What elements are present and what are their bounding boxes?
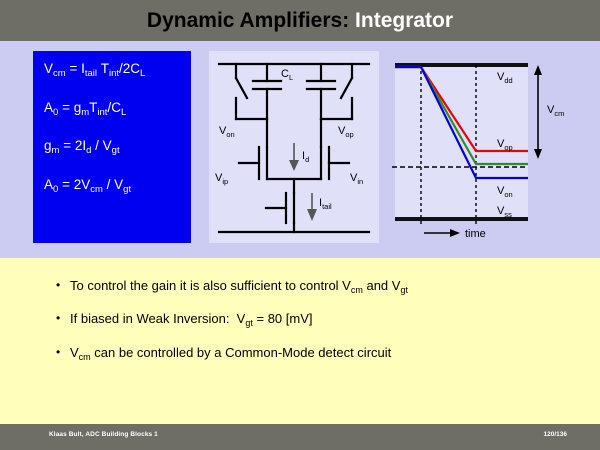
list-item: Vcm can be controlled by a Common-Mode d… <box>56 345 556 361</box>
von-label: Von <box>219 125 235 139</box>
page-title: Dynamic Amplifiers: Integrator <box>147 9 453 33</box>
vcm-span-label: Vcm <box>547 104 564 118</box>
bullet-panel: To control the gain it is also sufficien… <box>0 258 600 424</box>
footer-page-number: 120/136 <box>544 431 568 438</box>
vop-label: Vop <box>338 125 354 139</box>
vcm-span-arrow-head-up <box>534 65 542 75</box>
formula-box: Vcm = Itail Tint/2CL A0 = gmTint/CL gm =… <box>33 51 191 243</box>
circuit-diagram-panel: CL Von Vop Vip Vin Id Itail <box>209 51 379 243</box>
vin-label: Vin <box>350 172 363 186</box>
waveform-chart: Vdd Vop Von Vss Vcm time <box>392 51 570 243</box>
footer-author: Klaas Bult, ADC Building Blocks 1 <box>49 431 158 438</box>
itail-label: Itail <box>319 197 332 211</box>
id-label: Id <box>302 150 309 164</box>
right-switch-blade <box>341 78 352 98</box>
title-bar: Dynamic Amplifiers: Integrator <box>0 0 600 41</box>
formula-a0-gm: A0 = gmTint/CL <box>44 101 191 115</box>
cap-label: CL <box>281 68 293 82</box>
left-switch-blade <box>236 78 247 98</box>
formula-vcm: Vcm = Itail Tint/2CL <box>44 62 191 76</box>
footer-bar: Klaas Bult, ADC Building Blocks 1 120/13… <box>0 424 600 450</box>
vcm-span-arrow-head-down <box>534 149 542 159</box>
id-arrow-head <box>289 160 299 171</box>
itail-arrow-head <box>307 209 317 221</box>
circuit-schematic: CL Von Vop Vip Vin Id Itail <box>209 51 379 243</box>
upper-content-band: Vcm = Itail Tint/2CL A0 = gmTint/CL gm =… <box>0 41 600 258</box>
time-axis-label: time <box>465 228 486 240</box>
waveform-chart-panel: Vdd Vop Von Vss Vcm time <box>392 51 570 243</box>
list-item: To control the gain it is also sufficien… <box>56 278 556 294</box>
page-title-secondary: Integrator <box>355 9 453 32</box>
formula-gm: gm = 2Id / Vgt <box>44 139 191 153</box>
slide-root: Dynamic Amplifiers: Integrator Vcm = Ita… <box>0 0 600 450</box>
page-title-primary: Dynamic Amplifiers: <box>147 9 349 32</box>
list-item: If biased in Weak Inversion: Vgt = 80 [m… <box>56 311 556 327</box>
bullet-list: To control the gain it is also sufficien… <box>56 278 556 378</box>
formula-a0-vcm: A0 = 2Vcm / Vgt <box>44 178 191 192</box>
vip-label: Vip <box>215 172 228 186</box>
time-axis-arrow-head <box>450 229 460 237</box>
